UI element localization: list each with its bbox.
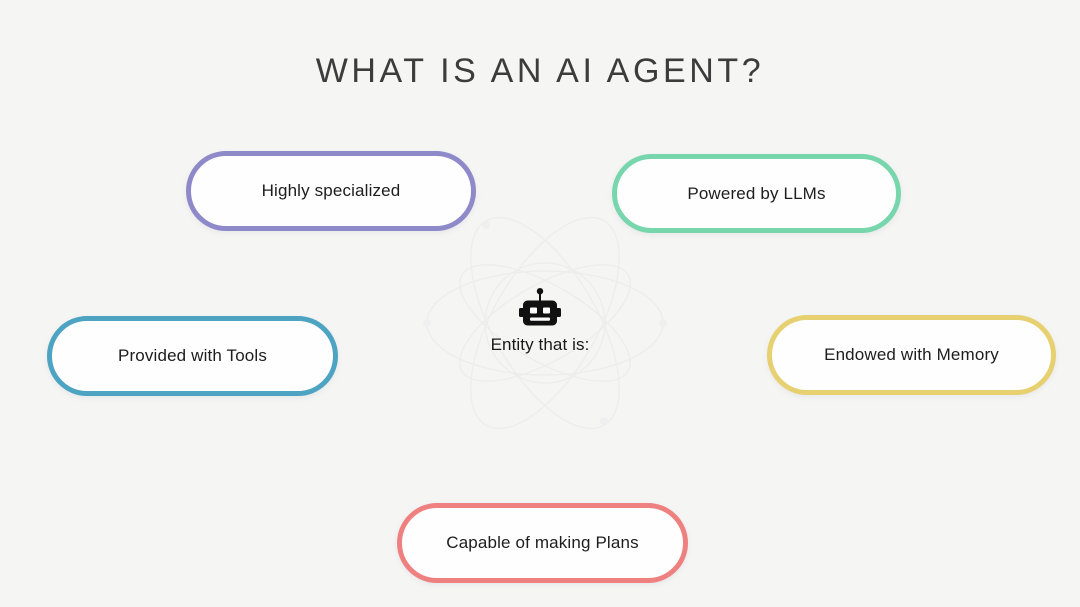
node-label: Powered by LLMs <box>687 184 825 204</box>
node-label: Capable of making Plans <box>446 533 638 553</box>
node-endowed-with-memory[interactable]: Endowed with Memory <box>767 315 1056 395</box>
node-powered-by-llms[interactable]: Powered by LLMs <box>612 154 901 233</box>
page-title: WHAT IS AN AI AGENT? <box>0 52 1080 91</box>
node-label: Provided with Tools <box>118 346 267 366</box>
node-label: Endowed with Memory <box>824 345 999 365</box>
center-cluster: Entity that is: <box>440 288 640 355</box>
robot-head-icon <box>518 288 562 328</box>
node-provided-with-tools[interactable]: Provided with Tools <box>47 316 338 396</box>
slide-canvas: WHAT IS AN AI AGENT? Highly specialized … <box>0 0 1080 607</box>
center-label: Entity that is: <box>440 335 640 355</box>
node-label: Highly specialized <box>262 181 401 201</box>
node-highly-specialized[interactable]: Highly specialized <box>186 151 476 231</box>
node-capable-of-making-plans[interactable]: Capable of making Plans <box>397 503 688 583</box>
